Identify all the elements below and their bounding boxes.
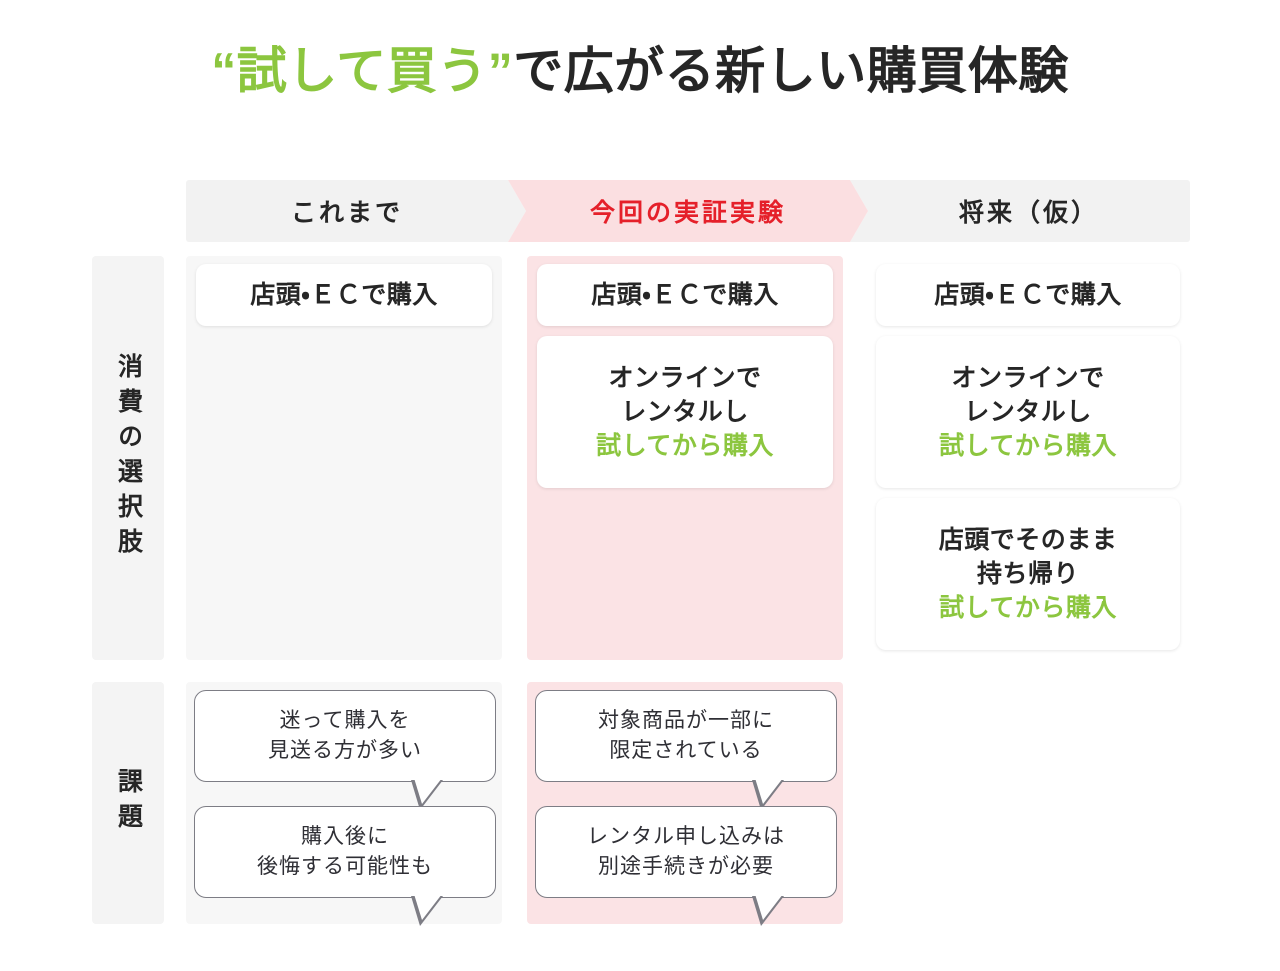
row-label-challenges-text: 課題: [116, 768, 141, 838]
option-card[interactable]: 店頭・ＥＣで購入: [876, 264, 1180, 326]
challenge-bubble[interactable]: 迷って購入を 見送る方が多い: [194, 690, 496, 782]
option-card-line: 店頭・ＥＣで購入: [934, 278, 1122, 312]
option-card-line: 店頭・ＥＣで購入: [591, 278, 779, 312]
option-card[interactable]: オンラインで レンタルし 試してから購入: [876, 336, 1180, 488]
column-header-future[interactable]: 将来（仮）: [850, 180, 1190, 242]
column-header-current[interactable]: 今回の実証実験: [508, 180, 868, 242]
bubble-tail-fill-icon: [755, 778, 783, 804]
challenge-bubble[interactable]: 購入後に 後悔する可能性も: [194, 806, 496, 898]
challenge-bubble-line: 購入後に: [301, 822, 389, 852]
challenge-bubble[interactable]: レンタル申し込みは 別途手続きが必要: [535, 806, 837, 898]
challenge-bubble-line: 限定されている: [609, 736, 762, 766]
option-card-line-highlight: 試してから購入: [939, 429, 1117, 463]
option-card-line: 持ち帰り: [977, 557, 1079, 591]
option-card-line: 店頭・ＥＣで購入: [250, 278, 438, 312]
option-card-line: レンタルし: [964, 395, 1092, 429]
option-card[interactable]: オンラインで レンタルし 試してから購入: [537, 336, 833, 488]
row-label-options-text: 消費の選択肢: [116, 353, 141, 563]
option-card-line: オンラインで: [951, 361, 1104, 395]
row-label-challenges: 課題: [92, 682, 164, 924]
column-header-future-label: 将来（仮）: [941, 193, 1099, 229]
option-card-line: レンタルし: [621, 395, 749, 429]
option-card-line: オンラインで: [608, 361, 761, 395]
row-label-options: 消費の選択肢: [92, 256, 164, 660]
option-card-line: 店頭でそのまま: [939, 523, 1118, 557]
bubble-tail-fill-icon: [414, 778, 442, 804]
option-card[interactable]: 店頭・ＥＣで購入: [537, 264, 833, 326]
challenge-bubble[interactable]: 対象商品が一部に 限定されている: [535, 690, 837, 782]
option-card-line-highlight: 試してから購入: [939, 591, 1117, 625]
bubble-tail-fill-icon: [755, 894, 783, 920]
challenge-bubble-line: 見送る方が多い: [268, 736, 422, 766]
option-card[interactable]: 店頭・ＥＣで購入: [196, 264, 492, 326]
column-header-past[interactable]: これまで: [186, 180, 526, 242]
column-header-current-label: 今回の実証実験: [572, 193, 804, 229]
comparison-board: これまで 今回の実証実験 将来（仮） 消費の選択肢 課題 店頭・ＥＣで購入 店頭…: [0, 0, 1280, 971]
column-header-past-label: これまで: [291, 193, 421, 229]
bubble-tail-fill-icon: [414, 894, 442, 920]
challenge-bubble-line: 後悔する可能性も: [257, 852, 433, 882]
challenge-bubble-line: 迷って購入を: [280, 706, 411, 736]
challenge-bubble-line: レンタル申し込みは: [587, 822, 785, 852]
challenge-bubble-line: 対象商品が一部に: [598, 706, 774, 736]
option-card[interactable]: 店頭でそのまま 持ち帰り 試してから購入: [876, 498, 1180, 650]
challenge-bubble-line: 別途手続きが必要: [598, 852, 774, 882]
option-card-line-highlight: 試してから購入: [596, 429, 774, 463]
